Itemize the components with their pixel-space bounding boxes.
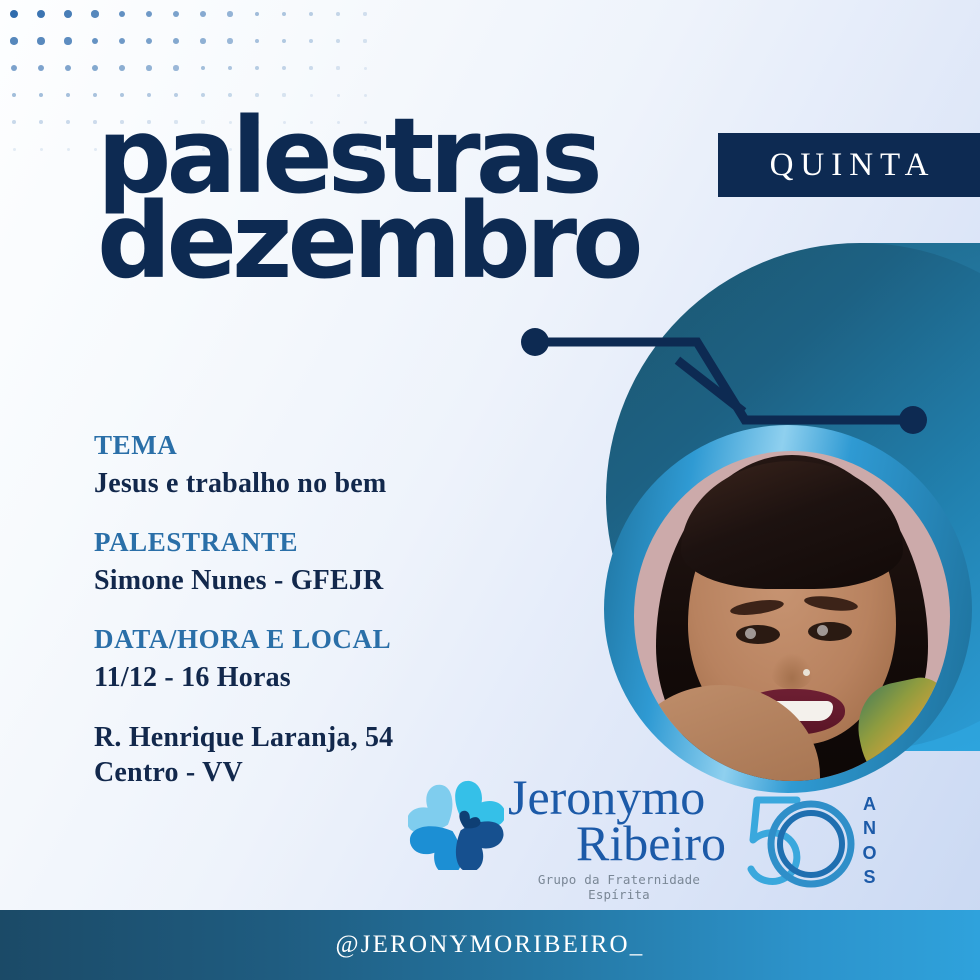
grid-dot <box>12 93 17 98</box>
speaker-photo <box>634 451 950 781</box>
grid-dot <box>282 39 286 43</box>
grid-dot <box>39 120 43 124</box>
grid-dot <box>336 12 340 16</box>
grid-dot <box>309 66 313 70</box>
grid-dot <box>200 38 206 44</box>
speaker-photo-ring <box>604 425 972 793</box>
footer-bar: @JERONYMORIBEIRO_ <box>0 910 980 980</box>
grid-dot <box>67 148 70 151</box>
eye-left <box>736 625 780 644</box>
anniversary-badge: ANOS <box>735 786 885 894</box>
speaker-value: Simone Nunes - GFEJR <box>94 564 564 598</box>
grid-dot <box>64 10 72 18</box>
grid-dot <box>40 148 43 151</box>
grid-dot <box>146 38 152 44</box>
grid-dot <box>336 39 340 43</box>
anniversary-word: ANOS <box>859 792 881 889</box>
grid-dot <box>363 12 366 15</box>
anos-letter: O <box>859 841 881 865</box>
butterfly-hearts-icon <box>408 778 504 870</box>
grid-dot <box>146 11 153 18</box>
anos-letter: N <box>859 816 881 840</box>
grid-dot <box>12 120 16 124</box>
grid-dot <box>173 38 179 44</box>
grid-dot <box>119 65 125 71</box>
social-handle: @JERONYMORIBEIRO_ <box>335 931 644 959</box>
grid-dot <box>282 66 286 70</box>
grid-dot <box>146 65 151 70</box>
hair-top-shape <box>681 461 903 589</box>
anos-letters: ANOS <box>859 792 881 889</box>
grid-dot <box>255 66 259 70</box>
grid-dot <box>227 38 232 43</box>
eye-highlight <box>745 628 756 639</box>
grid-dot <box>10 37 17 44</box>
anos-letter: A <box>859 792 881 816</box>
grid-dot <box>11 65 17 71</box>
theme-value: Jesus e trabalho no bem <box>94 467 564 501</box>
weekday-badge: QUINTA <box>718 133 980 197</box>
grid-dot <box>173 65 178 70</box>
grid-dot <box>92 38 99 45</box>
grid-dot <box>39 93 44 98</box>
grid-dot <box>282 12 287 17</box>
grid-dot <box>13 148 16 151</box>
grid-dot <box>92 65 98 71</box>
datetime-label: DATA/HORA E LOCAL <box>94 624 564 655</box>
grid-dot <box>201 66 206 71</box>
grid-dot <box>336 66 339 69</box>
address-line-1: R. Henrique Laranja, 54 <box>94 721 564 755</box>
grid-dot <box>200 11 206 17</box>
grid-dot <box>119 11 126 18</box>
eyebrow-left <box>729 597 784 617</box>
grid-dot <box>119 38 126 45</box>
event-details: TEMA Jesus e trabalho no bem PALESTRANTE… <box>94 430 564 790</box>
headline-line-2: dezembro <box>97 197 639 286</box>
page-title: palestras dezembro <box>97 112 639 287</box>
grid-dot <box>66 120 70 124</box>
logo-tagline: Grupo da Fraternidade Espírita <box>508 872 730 902</box>
grid-dot <box>309 12 313 16</box>
eyebrow-right <box>803 594 858 613</box>
grid-dot <box>91 10 98 17</box>
grid-dot <box>38 65 44 71</box>
grid-dot <box>173 11 179 17</box>
eye-highlight <box>817 625 828 636</box>
eye-right <box>808 622 852 641</box>
theme-label: TEMA <box>94 430 564 461</box>
grid-dot <box>255 39 260 44</box>
logo-wordmark: Jeronymo Ribeiro <box>508 774 728 866</box>
grid-dot <box>364 67 367 70</box>
grid-dot <box>255 12 260 17</box>
grid-dot <box>65 65 71 71</box>
speaker-label: PALESTRANTE <box>94 527 564 558</box>
grid-dot <box>66 93 71 98</box>
logo-name-line-2: Ribeiro <box>508 820 728 866</box>
grid-dot <box>37 37 44 44</box>
grid-dot <box>227 11 232 16</box>
logo-name-line-1: Jeronymo <box>508 774 728 820</box>
grid-dot <box>37 10 45 18</box>
grid-dot <box>363 39 366 42</box>
datetime-value: 11/12 - 16 Horas <box>94 661 564 695</box>
nose-stud <box>803 669 810 676</box>
anos-letter: S <box>859 865 881 889</box>
poster-canvas: palestras dezembro QUINTA TEMA Jesus e t… <box>0 0 980 980</box>
grid-dot <box>309 39 313 43</box>
grid-dot <box>228 66 233 71</box>
organization-logo: Jeronymo Ribeiro Grupo da Fraternidade E… <box>408 776 728 888</box>
grid-dot <box>10 10 19 19</box>
grid-dot <box>64 37 71 44</box>
